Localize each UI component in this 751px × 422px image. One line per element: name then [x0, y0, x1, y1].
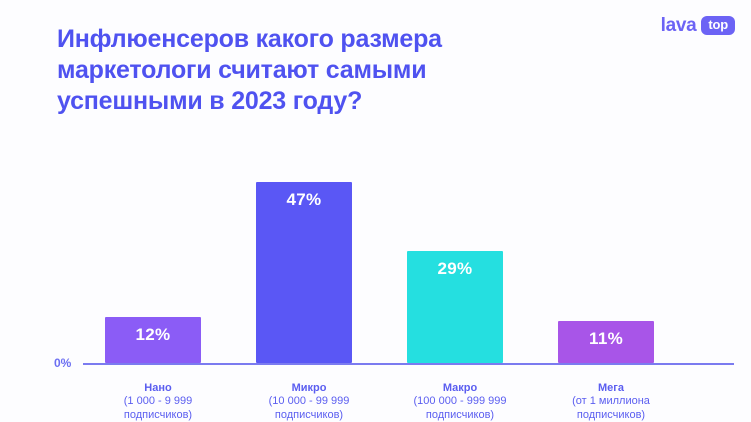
category-name-micro: Микро — [234, 378, 384, 396]
header: Инфлюенсеров какого размера маркетологи … — [0, 0, 751, 140]
axis-baseline — [83, 363, 734, 365]
category-name-macro: Макро — [385, 378, 535, 396]
infographic-root: Инфлюенсеров какого размера маркетологи … — [0, 0, 751, 422]
category-range-macro: (100 000 - 999 999 подписчиков) — [385, 395, 535, 422]
logo-badge: top — [701, 16, 735, 35]
page-title: Инфлюенсеров какого размера маркетологи … — [57, 24, 617, 117]
bar-value-nano: 12% — [105, 325, 201, 345]
category-label-mega: Мега (от 1 миллиона подписчиков) — [536, 378, 686, 422]
category-range-mega: (от 1 миллиона подписчиков) — [536, 395, 686, 422]
category-label-macro: Макро (100 000 - 999 999 подписчиков) — [385, 378, 535, 422]
category-label-micro: Микро (10 000 - 99 999 подписчиков) — [234, 378, 384, 422]
axis-zero-tick-label: 0% — [54, 356, 71, 370]
bar-value-macro: 29% — [407, 259, 503, 279]
category-label-nano: Нано (1 000 - 9 999 подписчиков) — [83, 378, 233, 422]
chart-plot-area: 0% 12% Нано (1 000 - 9 999 подписчиков) … — [0, 140, 751, 422]
bar-micro[interactable]: 47% — [256, 182, 352, 363]
category-range-micro: (10 000 - 99 999 подписчиков) — [234, 395, 384, 422]
brand-logo: lava top — [661, 16, 735, 35]
category-name-mega: Мега — [536, 378, 686, 396]
bar-nano[interactable]: 12% — [105, 317, 201, 363]
bar-mega[interactable]: 11% — [558, 321, 654, 363]
category-range-nano: (1 000 - 9 999 подписчиков) — [83, 395, 233, 422]
bar-value-mega: 11% — [558, 329, 654, 349]
bar-macro[interactable]: 29% — [407, 251, 503, 363]
category-name-nano: Нано — [83, 378, 233, 396]
bar-value-micro: 47% — [256, 190, 352, 210]
logo-wordmark: lava — [661, 16, 697, 35]
